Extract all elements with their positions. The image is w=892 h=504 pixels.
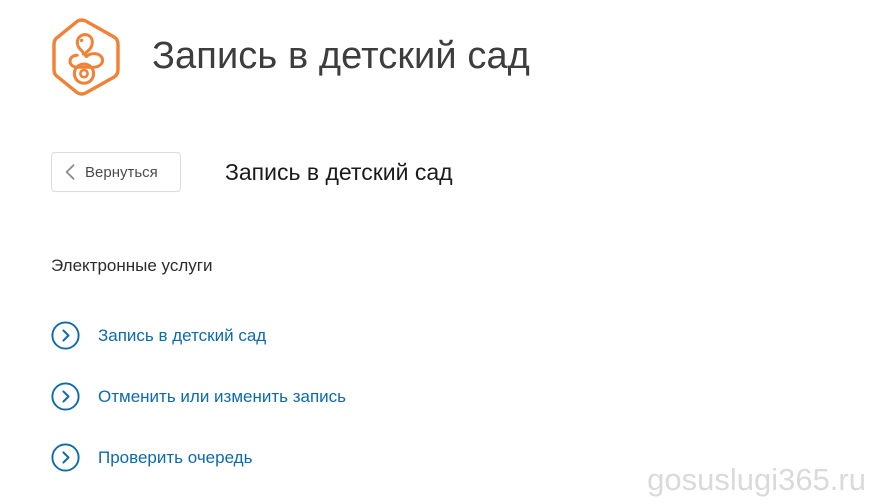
action-row: Вернуться Запись в детский сад — [51, 152, 453, 192]
service-link-check-queue[interactable]: Проверить очередь — [98, 449, 252, 466]
pacifier-hexagon-icon — [51, 18, 121, 96]
site-header: Запись в детский сад — [51, 18, 530, 96]
brand-logo — [51, 18, 121, 96]
service-list: Запись в детский сад Отменить или измени… — [51, 320, 751, 472]
service-link-enrollment[interactable]: Запись в детский сад — [98, 327, 266, 344]
arrow-circle-right-icon — [51, 321, 80, 350]
arrow-circle-right-icon — [51, 443, 80, 472]
arrow-circle-right-icon — [51, 382, 80, 411]
back-button-label: Вернуться — [85, 165, 158, 180]
back-button[interactable]: Вернуться — [51, 152, 181, 192]
chevron-left-icon — [65, 164, 75, 180]
list-item[interactable]: Проверить очередь — [51, 442, 751, 472]
list-item[interactable]: Отменить или изменить запись — [51, 381, 751, 411]
list-item[interactable]: Запись в детский сад — [51, 320, 751, 350]
services-caption: Электронные услуги — [51, 257, 751, 274]
services-section: Электронные услуги Запись в детский сад … — [51, 257, 751, 472]
watermark: gosuslugi365.ru — [647, 464, 866, 495]
service-link-cancel-or-change[interactable]: Отменить или изменить запись — [98, 388, 346, 405]
section-heading: Запись в детский сад — [181, 161, 453, 184]
page-title: Запись в детский сад — [121, 36, 530, 78]
